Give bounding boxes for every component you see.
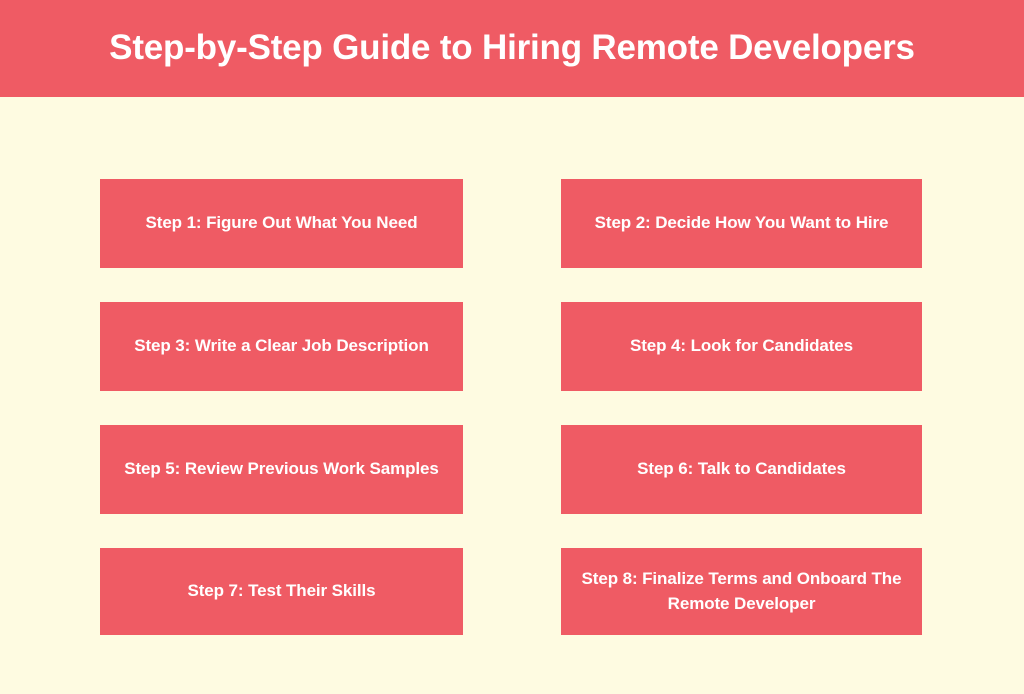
step-8-label: Step 8: Finalize Terms and Onboard The R… — [575, 567, 908, 615]
step-7-label: Step 7: Test Their Skills — [187, 579, 375, 603]
step-4-label: Step 4: Look for Candidates — [630, 334, 853, 358]
step-5-label: Step 5: Review Previous Work Samples — [124, 457, 439, 481]
step-box-6: Step 6: Talk to Candidates — [561, 425, 922, 514]
step-box-4: Step 4: Look for Candidates — [561, 302, 922, 391]
step-box-7: Step 7: Test Their Skills — [100, 548, 463, 635]
steps-grid: Step 1: Figure Out What You Need Step 2:… — [100, 179, 922, 635]
header-banner: Step-by-Step Guide to Hiring Remote Deve… — [0, 0, 1024, 97]
step-3-label: Step 3: Write a Clear Job Description — [134, 334, 429, 358]
step-box-8: Step 8: Finalize Terms and Onboard The R… — [561, 548, 922, 635]
step-box-3: Step 3: Write a Clear Job Description — [100, 302, 463, 391]
step-6-label: Step 6: Talk to Candidates — [637, 457, 846, 481]
step-1-label: Step 1: Figure Out What You Need — [146, 211, 418, 235]
step-box-2: Step 2: Decide How You Want to Hire — [561, 179, 922, 268]
step-box-1: Step 1: Figure Out What You Need — [100, 179, 463, 268]
step-2-label: Step 2: Decide How You Want to Hire — [595, 211, 889, 235]
page-title: Step-by-Step Guide to Hiring Remote Deve… — [109, 29, 915, 68]
infographic-page: Step-by-Step Guide to Hiring Remote Deve… — [0, 0, 1024, 694]
step-box-5: Step 5: Review Previous Work Samples — [100, 425, 463, 514]
